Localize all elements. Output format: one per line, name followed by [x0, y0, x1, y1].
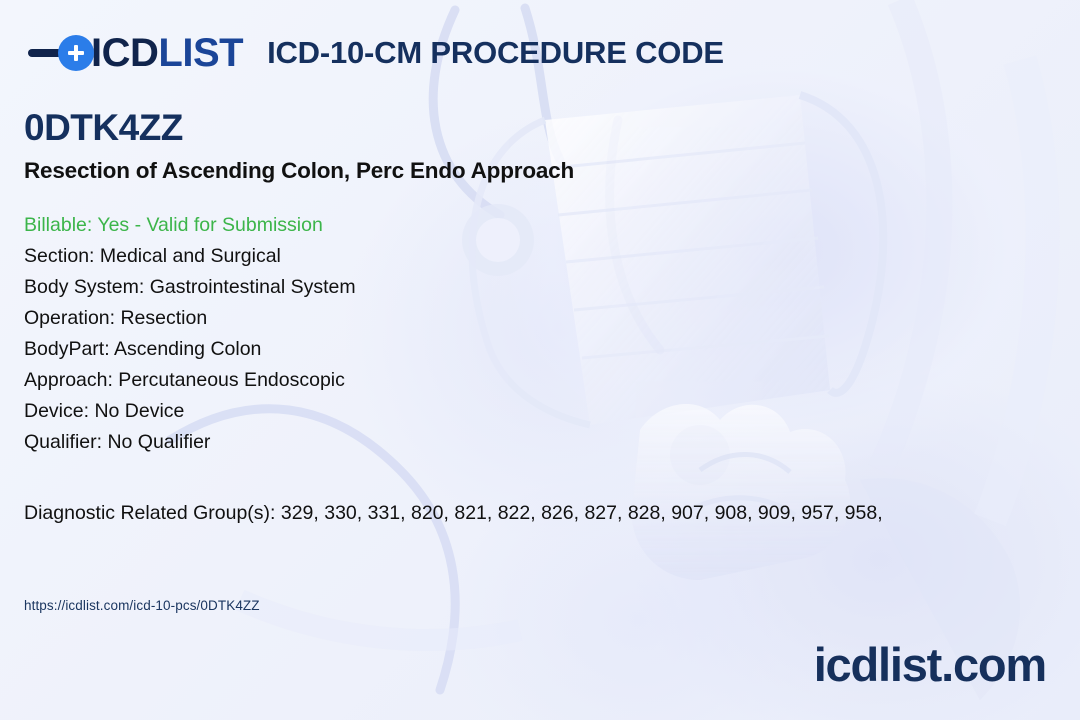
procedure-description: Resection of Ascending Colon, Perc Endo … [24, 158, 1080, 184]
attribute-body-system: Body System: Gastrointestinal System [24, 272, 1080, 303]
code-detail-panel: 0DTK4ZZ Resection of Ascending Colon, Pe… [24, 108, 1080, 529]
logo-word-list: LIST [158, 33, 243, 73]
attribute-operation: Operation: Resection [24, 303, 1080, 334]
source-url[interactable]: https://icdlist.com/icd-10-pcs/0DTK4ZZ [24, 598, 260, 613]
diagnostic-related-groups: Diagnostic Related Group(s): 329, 330, 3… [24, 498, 1080, 529]
attribute-approach: Approach: Percutaneous Endoscopic [24, 365, 1080, 396]
logo-word-icd: ICD [91, 33, 158, 73]
attribute-device: Device: No Device [24, 396, 1080, 427]
attribute-section: Section: Medical and Surgical [24, 241, 1080, 272]
procedure-code: 0DTK4ZZ [24, 108, 1080, 149]
dash-icon [28, 49, 62, 57]
attribute-billable: Billable: Yes - Valid for Submission [24, 210, 1080, 241]
footer-brand: icdlist.com [814, 641, 1046, 688]
page-header: ICD LIST ICD-10-CM PROCEDURE CODE [28, 26, 724, 80]
attribute-list: Billable: Yes - Valid for Submission Sec… [24, 210, 1080, 458]
attribute-qualifier: Qualifier: No Qualifier [24, 427, 1080, 458]
page-title: ICD-10-CM PROCEDURE CODE [267, 35, 724, 71]
plus-circle-icon [58, 35, 94, 71]
attribute-body-part: BodyPart: Ascending Colon [24, 334, 1080, 365]
icdlist-logo[interactable]: ICD LIST [28, 33, 243, 73]
